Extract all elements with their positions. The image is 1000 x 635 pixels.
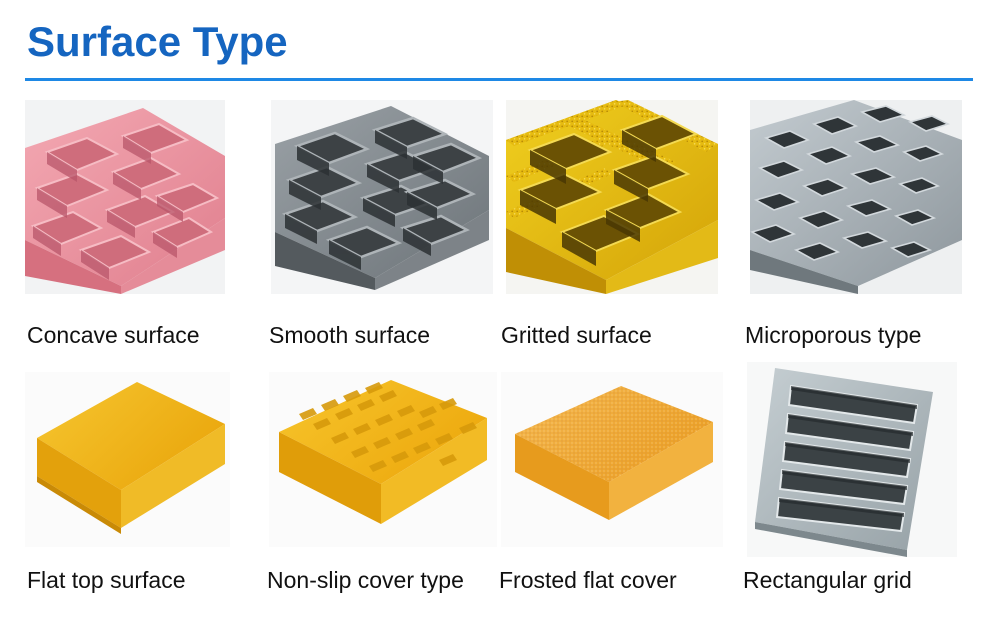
grid-item-rectangular-grid[interactable]: Rectangular grid xyxy=(735,362,1000,627)
grid-item-microporous-type[interactable]: Microporous type xyxy=(735,100,1000,362)
grid-item-caption: Microporous type xyxy=(745,322,921,349)
surface-type-page: Surface Type xyxy=(0,0,1000,635)
flat-top-surface-cover-photo xyxy=(25,372,230,547)
grid-item-caption: Smooth surface xyxy=(269,322,430,349)
grid-item-flat-top-surface[interactable]: Flat top surface xyxy=(0,362,259,627)
grid-item-concave-surface[interactable]: Concave surface xyxy=(0,100,259,362)
frosted-flat-cover-photo xyxy=(501,372,723,547)
grid-item-frosted-flat-cover[interactable]: Frosted flat cover xyxy=(491,362,735,627)
grid-row-2: Flat top surface xyxy=(0,362,1000,627)
non-slip-cover-type-photo xyxy=(269,372,497,547)
grid-item-smooth-surface[interactable]: Smooth surface xyxy=(259,100,491,362)
microporous-type-grating-photo xyxy=(750,100,962,294)
concave-surface-grating-photo xyxy=(25,100,225,294)
grid-item-caption: Rectangular grid xyxy=(743,567,912,594)
surface-type-grid: Concave surface xyxy=(0,100,1000,627)
page-title: Surface Type xyxy=(27,16,288,68)
grid-item-non-slip-cover-type[interactable]: Non-slip cover type xyxy=(259,362,491,627)
rectangular-grid-photo xyxy=(747,362,957,557)
smooth-surface-grating-photo xyxy=(271,100,493,294)
title-underline xyxy=(25,78,973,81)
grid-item-caption: Non-slip cover type xyxy=(267,567,464,594)
gritted-surface-grating-photo xyxy=(506,100,718,294)
grid-item-caption: Concave surface xyxy=(27,322,200,349)
grid-item-caption: Frosted flat cover xyxy=(499,567,677,594)
grid-row-1: Concave surface xyxy=(0,100,1000,362)
grid-item-caption: Flat top surface xyxy=(27,567,186,594)
grid-item-gritted-surface[interactable]: Gritted surface xyxy=(491,100,735,362)
grid-item-caption: Gritted surface xyxy=(501,322,652,349)
